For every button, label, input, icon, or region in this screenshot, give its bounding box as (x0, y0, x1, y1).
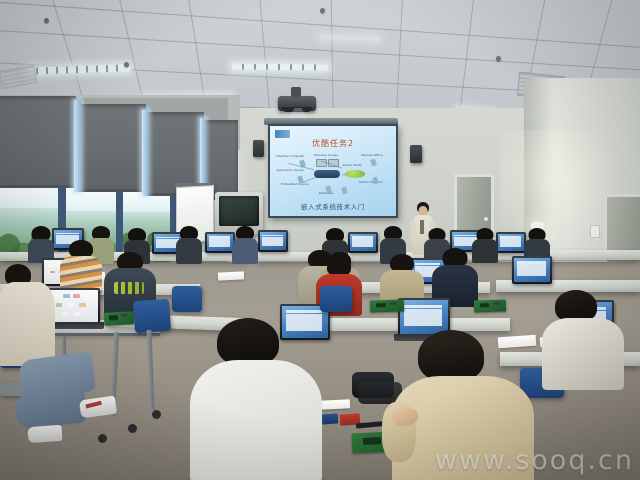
diagram-label: Application Server (276, 168, 304, 172)
laptop-screen[interactable] (260, 232, 286, 250)
shoe-stripe (85, 401, 101, 409)
roller-blind[interactable] (80, 104, 146, 192)
development-board (370, 299, 404, 312)
laptop-lid (205, 232, 235, 253)
attendee-grey-shirt (540, 290, 626, 386)
development-board (104, 311, 135, 326)
torso (0, 282, 55, 366)
window-light-strip (74, 100, 81, 192)
sprinkler-head (124, 62, 129, 67)
classroom-photo: 优酷任务2 Desktop Computer Wireless Access R… (0, 0, 640, 480)
projection-screen: 优酷任务2 Desktop Computer Wireless Access R… (268, 124, 398, 218)
diagram-label: Mobile Terminal (359, 180, 382, 184)
torso (542, 318, 624, 390)
laptop-lid (258, 230, 288, 252)
laptop-lid (348, 232, 378, 253)
slide-footer: 嵌入式系统技术入门 (270, 201, 396, 211)
sprinkler-head (44, 18, 49, 23)
attendee-striped-shirt (60, 240, 102, 290)
attendee-dark-head (28, 226, 54, 260)
laptop[interactable] (348, 232, 378, 253)
ceiling-light-fixture (232, 63, 328, 70)
attendee-blue-shirt (232, 226, 258, 262)
diagram-icon (372, 176, 379, 184)
jacket-logo (114, 282, 144, 294)
diagram-icon (325, 185, 332, 193)
laptop-lid (496, 232, 526, 253)
slide-diagram: Desktop Computer Wireless Access Remote … (274, 152, 392, 200)
torso (190, 360, 322, 480)
handout-paper (218, 271, 244, 280)
diagram-icon (370, 158, 377, 166)
diagram-label: Wireless Access (314, 153, 338, 157)
sneaker (27, 425, 62, 443)
hair (217, 318, 279, 366)
laptop-screen[interactable] (350, 234, 376, 251)
ceiling-light-fixture (320, 35, 380, 41)
arm (410, 220, 416, 242)
development-board (474, 299, 506, 312)
desk-caster (128, 424, 137, 433)
window-light-strip (142, 110, 148, 196)
hair (418, 330, 484, 382)
diagram-core-node (314, 170, 340, 178)
attendee-legs-jeans (14, 388, 87, 429)
laptop[interactable] (512, 256, 552, 284)
diagram-label: Desktop Computer (276, 154, 304, 158)
laptop[interactable] (258, 230, 288, 252)
chair[interactable] (172, 286, 202, 312)
light-switch[interactable] (590, 225, 600, 238)
chair[interactable] (320, 286, 352, 312)
crt-screen (219, 196, 259, 226)
laptop-lid (512, 256, 552, 284)
laptop-screen[interactable] (514, 258, 550, 282)
laptop-screen[interactable] (400, 300, 448, 334)
diagram-label: Sensor Node (342, 163, 361, 167)
slide-logo (275, 130, 290, 138)
roller-blind[interactable] (0, 96, 76, 188)
attendee-navy-suit (432, 248, 478, 302)
sprinkler-head (496, 56, 501, 61)
door-knob[interactable] (484, 217, 488, 221)
attendee-white-jacket-front (186, 318, 326, 480)
attendee-beige-jacket-front (388, 330, 538, 480)
air-vent (0, 65, 37, 89)
torso (176, 238, 202, 264)
presentation-slide: 优酷任务2 Desktop Computer Wireless Access R… (270, 126, 396, 216)
chair[interactable] (133, 299, 171, 333)
desk-caster (98, 434, 107, 443)
wall-speaker-left (253, 140, 264, 157)
slide-title: 优酷任务2 (270, 138, 396, 149)
attendee-dark-shirt (176, 226, 202, 262)
diagram-icon (341, 186, 348, 194)
diagram-cloud-node (345, 170, 365, 178)
ceiling-projector (278, 96, 316, 111)
torso (232, 238, 258, 264)
laptop[interactable] (496, 232, 526, 253)
desk-caster (152, 410, 161, 419)
diagram-label: Remote Office (361, 153, 382, 157)
sprinkler-head (320, 8, 325, 13)
laptop-screen[interactable] (207, 234, 233, 251)
laptop-screen[interactable] (498, 234, 524, 251)
laptop[interactable] (205, 232, 235, 253)
wall-speaker-right (410, 145, 422, 163)
